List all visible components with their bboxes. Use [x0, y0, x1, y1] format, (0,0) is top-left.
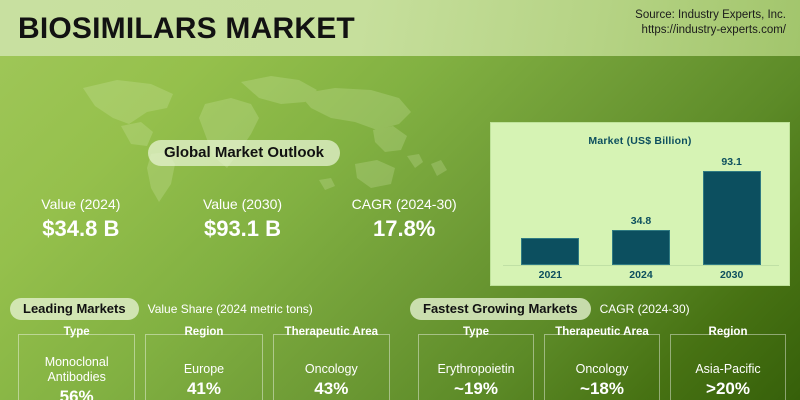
kpi-row: Value (2024) $34.8 B Value (2030) $93.1 … — [0, 194, 485, 244]
chart-title: Market (US$ Billion) — [491, 135, 789, 147]
bar-2030 — [703, 171, 761, 265]
global-market-outlook-pill: Global Market Outlook — [148, 140, 340, 166]
x-tick-2030: 2030 — [703, 269, 761, 281]
card-name: Erythropoietin — [434, 362, 517, 377]
card-growing-therapeutic-area: Therapeutic Area Oncology ~18% — [544, 334, 660, 400]
card-header: Therapeutic Area — [548, 326, 656, 338]
fastest-growing-markets-header: Fastest Growing Markets CAGR (2024-30) — [410, 298, 690, 320]
header-band: BIOSIMILARS MARKET Source: Industry Expe… — [0, 0, 800, 56]
leading-markets-header: Leading Markets Value Share (2024 metric… — [10, 298, 313, 320]
card-leading-therapeutic-area: Therapeutic Area Oncology 43% — [273, 334, 390, 400]
bar-group-2021 — [521, 151, 579, 265]
kpi-figure: 17.8% — [323, 214, 485, 244]
chart-x-tick-labels: 2021 2024 2030 — [505, 269, 777, 281]
kpi-label: CAGR (2024-30) — [323, 194, 485, 214]
x-tick-2021: 2021 — [521, 269, 579, 281]
card-name: Asia-Pacific — [692, 362, 763, 377]
bar-2024 — [612, 230, 670, 265]
card-value: 56% — [60, 386, 94, 400]
source-attribution: Source: Industry Experts, Inc. https://i… — [635, 8, 786, 38]
body-area: Global Market Outlook Value (2024) $34.8… — [0, 56, 800, 400]
kpi-value-2030: Value (2030) $93.1 B — [162, 194, 324, 244]
card-header: Type — [456, 326, 496, 338]
card-name: Monoclonal Antibodies — [19, 355, 134, 385]
card-header: Therapeutic Area — [278, 326, 386, 338]
kpi-label: Value (2030) — [162, 194, 324, 214]
bar-value-label: 93.1 — [721, 156, 741, 169]
card-leading-type: Type Monoclonal Antibodies 56% — [18, 334, 135, 400]
x-tick-2024: 2024 — [612, 269, 670, 281]
card-name: Europe — [181, 362, 227, 377]
kpi-figure: $34.8 B — [0, 214, 162, 244]
bar-group-2030: 93.1 — [703, 151, 761, 265]
market-bar-chart: Market (US$ Billion) 34.8 93.1 — [490, 122, 790, 286]
page-title: BIOSIMILARS MARKET — [18, 12, 355, 46]
card-leading-region: Region Europe 41% — [145, 334, 262, 400]
card-growing-type: Type Erythropoietin ~19% — [418, 334, 534, 400]
card-header: Region — [177, 326, 230, 338]
leading-markets-subtitle: Value Share (2024 metric tons) — [148, 302, 313, 316]
kpi-cagr: CAGR (2024-30) 17.8% — [323, 194, 485, 244]
world-map-watermark — [55, 60, 485, 210]
card-value: 43% — [314, 378, 348, 400]
chart-plot-area: 34.8 93.1 — [505, 151, 777, 265]
card-name: Oncology — [573, 362, 632, 377]
card-header: Type — [57, 326, 97, 338]
bar-group-2024: 34.8 — [612, 151, 670, 265]
card-growing-region: Region Asia-Pacific >20% — [670, 334, 786, 400]
card-name: Oncology — [302, 362, 361, 377]
leading-markets-cards: Type Monoclonal Antibodies 56% Region Eu… — [18, 334, 390, 400]
card-value: 41% — [187, 378, 221, 400]
card-header: Region — [702, 326, 755, 338]
kpi-value-2024: Value (2024) $34.8 B — [0, 194, 162, 244]
kpi-figure: $93.1 B — [162, 214, 324, 244]
infographic-page: BIOSIMILARS MARKET Source: Industry Expe… — [0, 0, 800, 400]
bar-2021 — [521, 238, 579, 265]
card-value: ~18% — [580, 378, 624, 400]
leading-markets-pill: Leading Markets — [10, 298, 139, 320]
fastest-growing-markets-pill: Fastest Growing Markets — [410, 298, 591, 320]
source-publisher: Source: Industry Experts, Inc. — [635, 8, 786, 23]
chart-bars: 34.8 93.1 — [505, 151, 777, 265]
card-value: ~19% — [454, 378, 498, 400]
chart-x-axis — [503, 265, 779, 266]
card-value: >20% — [706, 378, 750, 400]
source-url[interactable]: https://industry-experts.com/ — [635, 23, 786, 38]
fastest-growing-markets-subtitle: CAGR (2024-30) — [600, 302, 690, 316]
bar-value-label: 34.8 — [631, 215, 651, 228]
fastest-growing-markets-cards: Type Erythropoietin ~19% Therapeutic Are… — [418, 334, 786, 400]
kpi-label: Value (2024) — [0, 194, 162, 214]
